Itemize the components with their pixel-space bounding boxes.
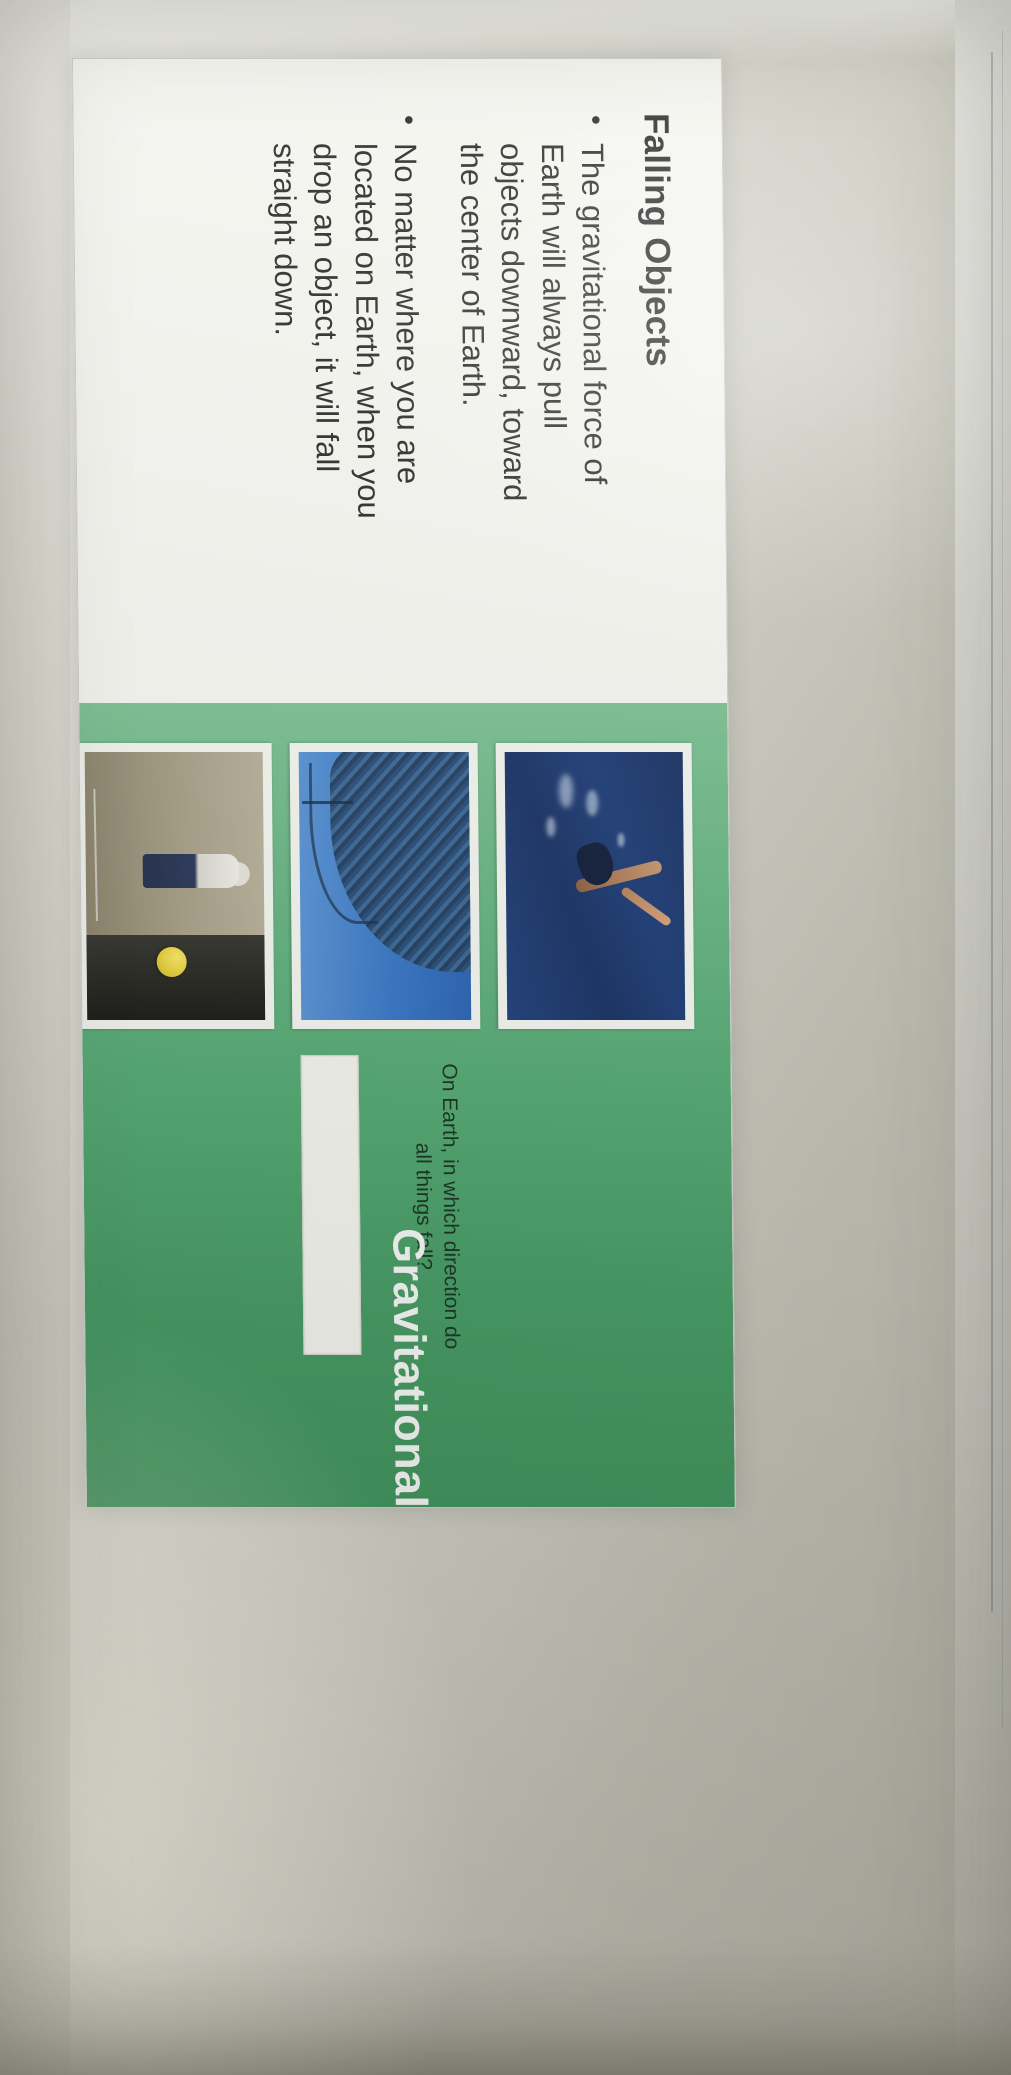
image-frame-drop (76, 743, 275, 1029)
water-splash (559, 774, 573, 808)
stadium-dome-photo (299, 752, 472, 1020)
bullet-item: No matter where you are located on Earth… (263, 113, 428, 533)
photograph-canvas: Falling Objects The gravitational force … (0, 0, 1011, 2075)
diver-arm-shape (620, 886, 672, 927)
background-bottom-shadow (0, 1945, 1011, 2075)
person-body-shape (143, 854, 239, 888)
slide-green-panel: On Earth, in which direction do all thin… (79, 703, 735, 1507)
image-frame-diver (496, 743, 695, 1029)
diver-photo (505, 752, 686, 1020)
answer-text-box[interactable] (301, 1055, 362, 1355)
slide-heading: Falling Objects (636, 113, 681, 663)
falling-ball-shape (156, 947, 186, 977)
screen-bezel-edge (991, 52, 993, 1612)
water-splash (618, 833, 625, 847)
screen-bezel-edge-outer (1002, 30, 1003, 1730)
slide-text-panel: Falling Objects The gravitational force … (73, 59, 727, 703)
presentation-slide: Falling Objects The gravitational force … (72, 58, 736, 1508)
water-splash (586, 790, 598, 816)
image-frame-dome (290, 743, 481, 1029)
slide-title: Gravitational Force (382, 1228, 438, 1508)
bullet-list: The gravitational force of Earth will al… (263, 113, 617, 663)
slide-rotation-wrapper: Falling Objects The gravitational force … (72, 58, 736, 1508)
background-left-surface (0, 0, 70, 2075)
bullet-item: The gravitational force of Earth will al… (450, 113, 615, 533)
dome-rim-shape (309, 763, 379, 924)
slide-title-wrapper: Gravitational Force (86, 1389, 735, 1485)
water-splash (546, 817, 555, 837)
image-strip (117, 743, 695, 1029)
dome-post-shape (303, 801, 354, 804)
dropping-ball-photo (85, 752, 266, 1020)
background-top-wash (0, 0, 1011, 60)
